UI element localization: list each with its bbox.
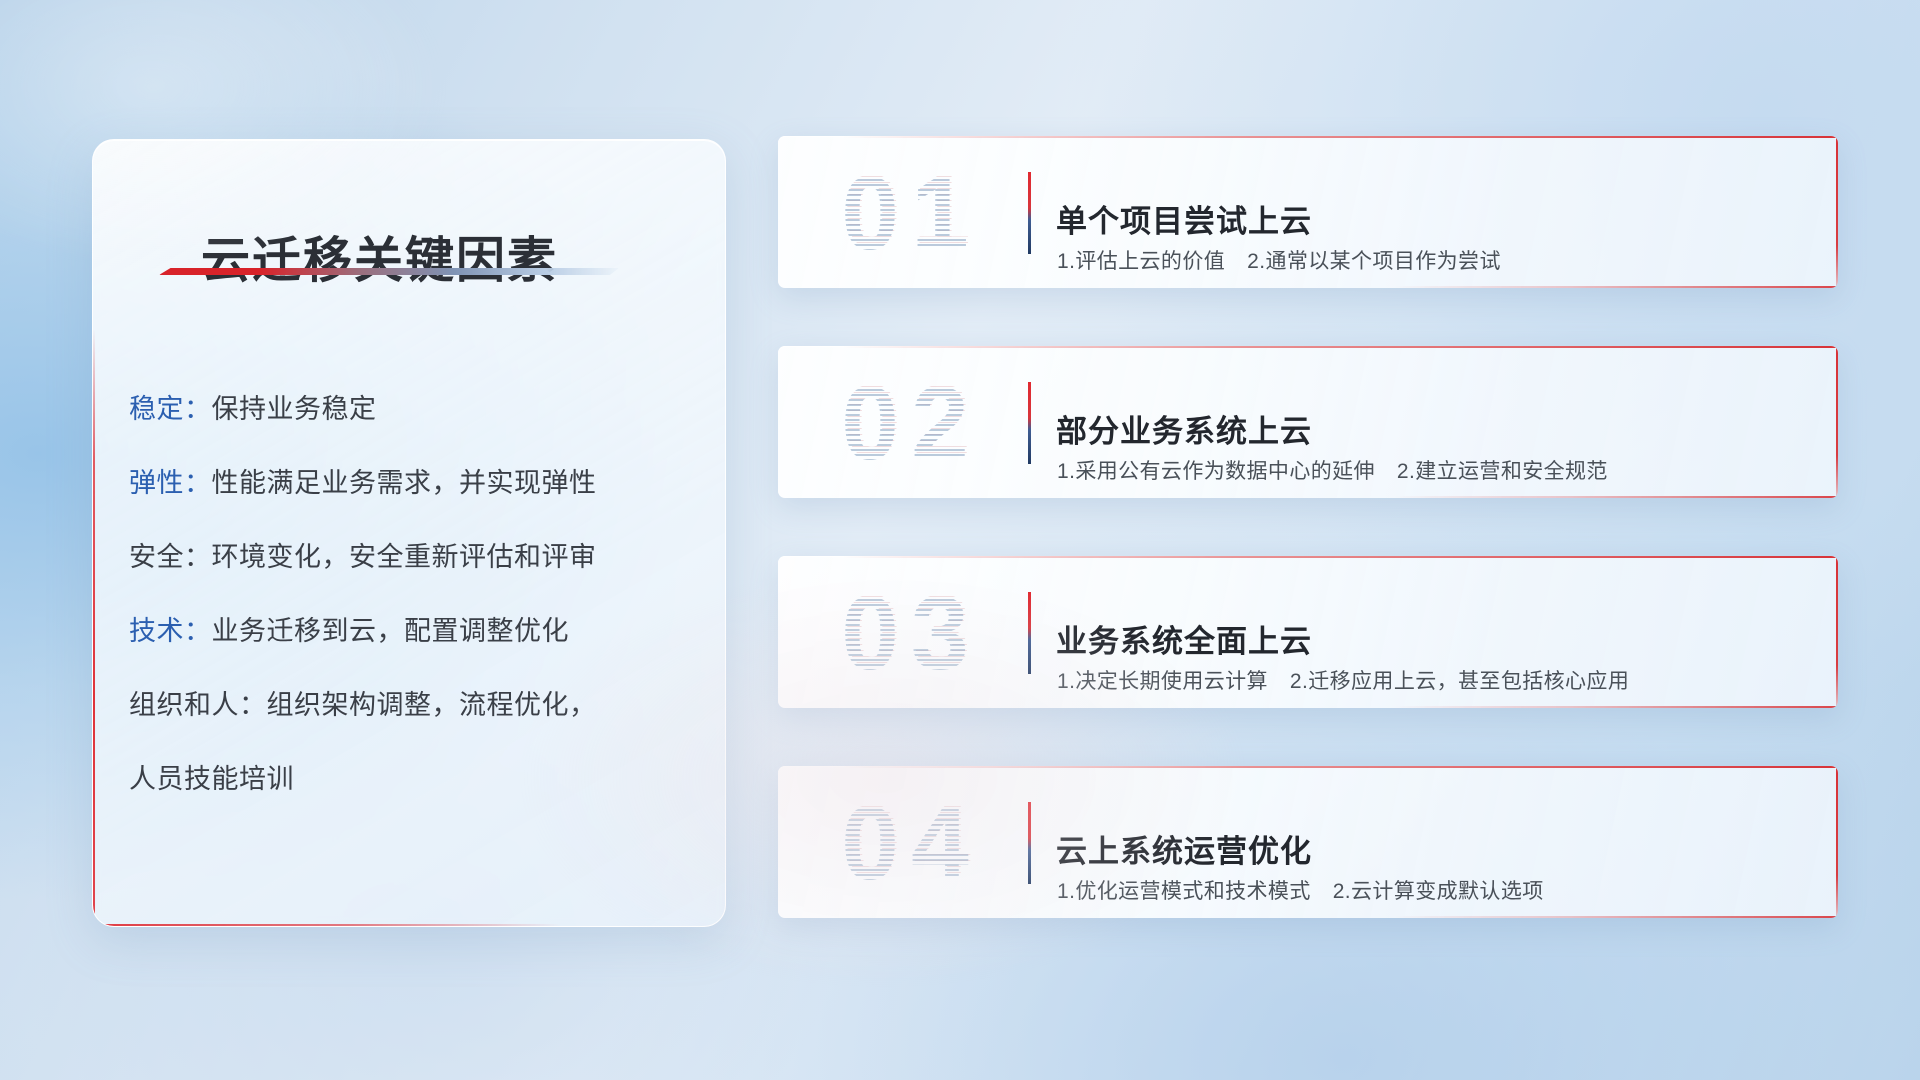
step-heading: 云上系统运营优化 (1056, 826, 1312, 871)
step-point-1: 1.评估上云的价值 (1057, 250, 1225, 273)
step-card-04[interactable]: 04 04 云上系统运营优化 1.优化运营模式和技术模式2.云计算变成默认选项 (778, 766, 1838, 918)
card-top-accent-line (842, 136, 1838, 138)
list-item: 技术：业务迁移到云，配置调整优化 (129, 594, 701, 668)
slide-canvas: 云迁移关键因素 稳定：保持业务稳定 弹性：性能满足业务需求，并实现弹性 安全：环… (0, 0, 1920, 1080)
step-point-2: 2.迁移应用上云，甚至包括核心应用 (1290, 670, 1629, 693)
step-description: 1.评估上云的价值2.通常以某个项目作为尝试 (1057, 245, 1501, 275)
factor-text: 人员技能培训 (129, 764, 294, 794)
list-item: 安全：环境变化，安全重新评估和评审 (129, 520, 701, 594)
step-description: 1.决定长期使用云计算2.迁移应用上云，甚至包括核心应用 (1057, 665, 1629, 695)
step-description: 1.优化运营模式和技术模式2.云计算变成默认选项 (1057, 875, 1544, 905)
factor-text: 保持业务稳定 (212, 394, 377, 424)
list-item: 人员技能培训 (129, 742, 701, 816)
title-underline-gradient (159, 268, 619, 275)
step-point-1: 1.采用公有云作为数据中心的延伸 (1057, 460, 1375, 483)
factor-text: 性能满足业务需求，并实现弹性 (212, 468, 597, 498)
factor-label: 稳定： (129, 394, 212, 424)
factor-label: 组织和人： (129, 690, 267, 720)
list-item: 组织和人：组织架构调整，流程优化， (129, 668, 701, 742)
step-description: 1.采用公有云作为数据中心的延伸2.建立运营和安全规范 (1057, 455, 1608, 485)
step-number: 03 (806, 574, 1016, 694)
step-point-1: 1.优化运营模式和技术模式 (1057, 880, 1311, 903)
card-top-accent-line (842, 766, 1838, 768)
card-right-accent-line (1836, 136, 1838, 288)
factor-label: 弹性： (129, 468, 212, 498)
card-right-accent-line (1836, 766, 1838, 918)
step-point-2: 2.通常以某个项目作为尝试 (1247, 250, 1501, 273)
key-factor-list: 稳定：保持业务稳定 弹性：性能满足业务需求，并实现弹性 安全：环境变化，安全重新… (129, 372, 701, 816)
migration-steps-list: 01 01 单个项目尝试上云 1.评估上云的价值2.通常以某个项目作为尝试 02… (778, 136, 1838, 976)
page-title: 云迁移关键因素 (201, 221, 558, 292)
card-bottom-accent-line (1393, 916, 1838, 918)
step-card-01[interactable]: 01 01 单个项目尝试上云 1.评估上云的价值2.通常以某个项目作为尝试 (778, 136, 1838, 288)
card-divider-bar (1028, 382, 1031, 464)
card-top-accent-line (842, 556, 1838, 558)
factor-text: 组织架构调整，流程优化， (267, 690, 597, 720)
panel-bottom-accent-line (93, 924, 561, 926)
step-number: 02 (806, 364, 1016, 484)
step-card-02[interactable]: 02 02 部分业务系统上云 1.采用公有云作为数据中心的延伸2.建立运营和安全… (778, 346, 1838, 498)
card-bottom-accent-line (1393, 286, 1838, 288)
card-divider-bar (1028, 172, 1031, 254)
card-bottom-accent-line (1393, 496, 1838, 498)
step-heading: 单个项目尝试上云 (1056, 196, 1312, 241)
list-item: 稳定：保持业务稳定 (129, 372, 701, 446)
step-number: 04 (806, 784, 1016, 904)
factor-text: 业务迁移到云，配置调整优化 (212, 616, 570, 646)
factor-label: 安全： (129, 542, 212, 572)
list-item: 弹性：性能满足业务需求，并实现弹性 (129, 446, 701, 520)
card-right-accent-line (1836, 346, 1838, 498)
key-factors-panel: 云迁移关键因素 稳定：保持业务稳定 弹性：性能满足业务需求，并实现弹性 安全：环… (92, 139, 726, 927)
step-card-03[interactable]: 03 03 业务系统全面上云 1.决定长期使用云计算2.迁移应用上云，甚至包括核… (778, 556, 1838, 708)
step-heading: 业务系统全面上云 (1056, 616, 1312, 661)
step-heading: 部分业务系统上云 (1056, 406, 1312, 451)
card-top-accent-line (842, 346, 1838, 348)
step-point-1: 1.决定长期使用云计算 (1057, 670, 1268, 693)
factor-text: 环境变化，安全重新评估和评审 (212, 542, 597, 572)
step-point-2: 2.云计算变成默认选项 (1333, 880, 1544, 903)
factor-label: 技术： (129, 616, 212, 646)
step-number: 01 (806, 154, 1016, 274)
card-right-accent-line (1836, 556, 1838, 708)
card-divider-bar (1028, 802, 1031, 884)
card-divider-bar (1028, 592, 1031, 674)
card-bottom-accent-line (1393, 706, 1838, 708)
step-point-2: 2.建立运营和安全规范 (1397, 460, 1608, 483)
panel-left-accent-line (93, 329, 95, 926)
